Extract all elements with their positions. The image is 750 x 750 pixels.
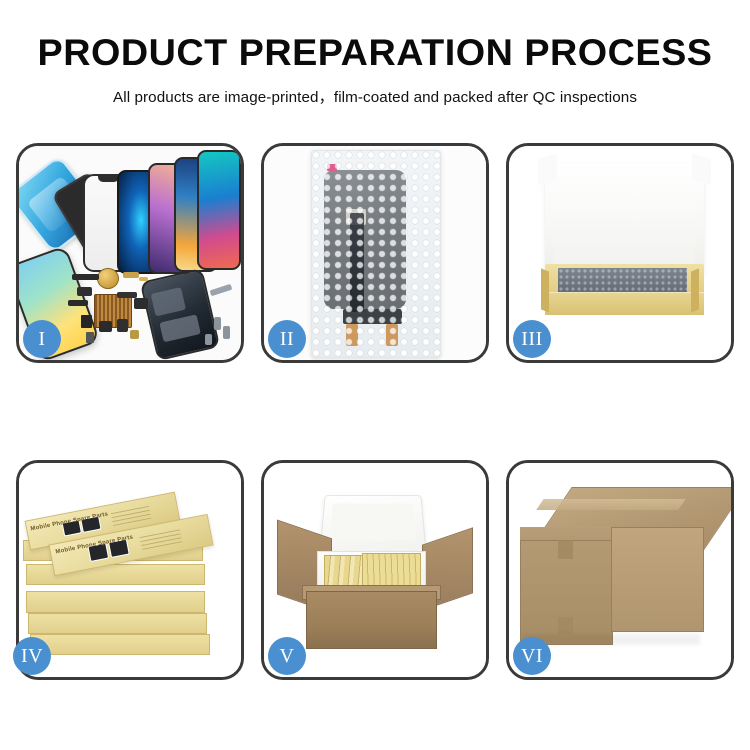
part-strip-a [72,274,99,279]
part-block-i [99,321,112,332]
part-block-d [77,287,93,296]
stack-layer-4 [28,613,208,634]
carton-tape-top [536,499,685,510]
step-panel-2[interactable]: II [261,143,489,363]
part-block-k [86,332,95,343]
step-panel-1[interactable]: I [16,143,244,363]
yellow-box-right-edge [691,269,699,313]
step-badge-3: III [513,320,551,358]
page-header: PRODUCT PREPARATION PROCESS All products… [0,0,750,107]
carton-tape-seam-upper [558,540,574,559]
page-subtitle: All products are image-printed，film-coat… [0,85,750,107]
bubble-wrap-bag [311,150,442,357]
speaker-part [97,268,119,289]
step-badge-4: IV [13,637,51,675]
part-block-e [68,300,88,306]
lid-spec-text-b [139,527,183,550]
carton-body [306,591,437,649]
step-panel-4[interactable]: Mobile Phone Spare Parts Mobile Phone Sp… [16,460,244,680]
step-panel-6[interactable]: VI [506,460,734,680]
yellow-box-front [545,292,705,316]
step-badge-1: I [23,320,61,358]
foam-box-lid [319,495,427,557]
screw-b [223,326,230,339]
step-panel-5[interactable]: V [261,460,489,680]
pink-qc-label [327,164,337,171]
yellow-box-left-edge [541,269,549,313]
step-badge-6: VI [513,637,551,675]
screw-a [214,317,221,330]
connector-bar [343,309,402,323]
part-block-f [117,292,137,298]
step-badge-2: II [268,320,306,358]
page-title: PRODUCT PREPARATION PROCESS [0,34,750,71]
stack-layer-3 [30,634,210,655]
part-strip-c [139,277,148,281]
phone-teal-wallpaper [197,150,241,270]
carton-tape-seam-lower [558,617,574,634]
screw-c [205,334,212,345]
connector-gold-left [346,324,358,347]
lid-spec-text-a [110,504,151,526]
process-step-grid: I II [0,143,750,680]
part-block-j [117,319,128,332]
carton-side-face [611,527,704,632]
stack-layer-5 [26,591,206,612]
tweezers-tool [209,284,232,297]
step-image-4: Mobile Phone Spare Parts Mobile Phone Sp… [19,463,241,677]
part-strip-b [123,272,139,277]
box-stack-illustration: Mobile Phone Spare Parts Mobile Phone Sp… [19,463,241,677]
lcd-screen [324,170,405,310]
connector-gold-right [386,324,398,347]
step-badge-5: V [268,637,306,675]
flex-cable [350,213,364,312]
phone-internal-board [139,268,220,360]
carton-shadow [522,634,700,645]
part-block-l [130,330,139,339]
part-block-h [81,315,92,328]
part-block-g [134,298,147,309]
step-panel-3[interactable]: III [506,143,734,363]
